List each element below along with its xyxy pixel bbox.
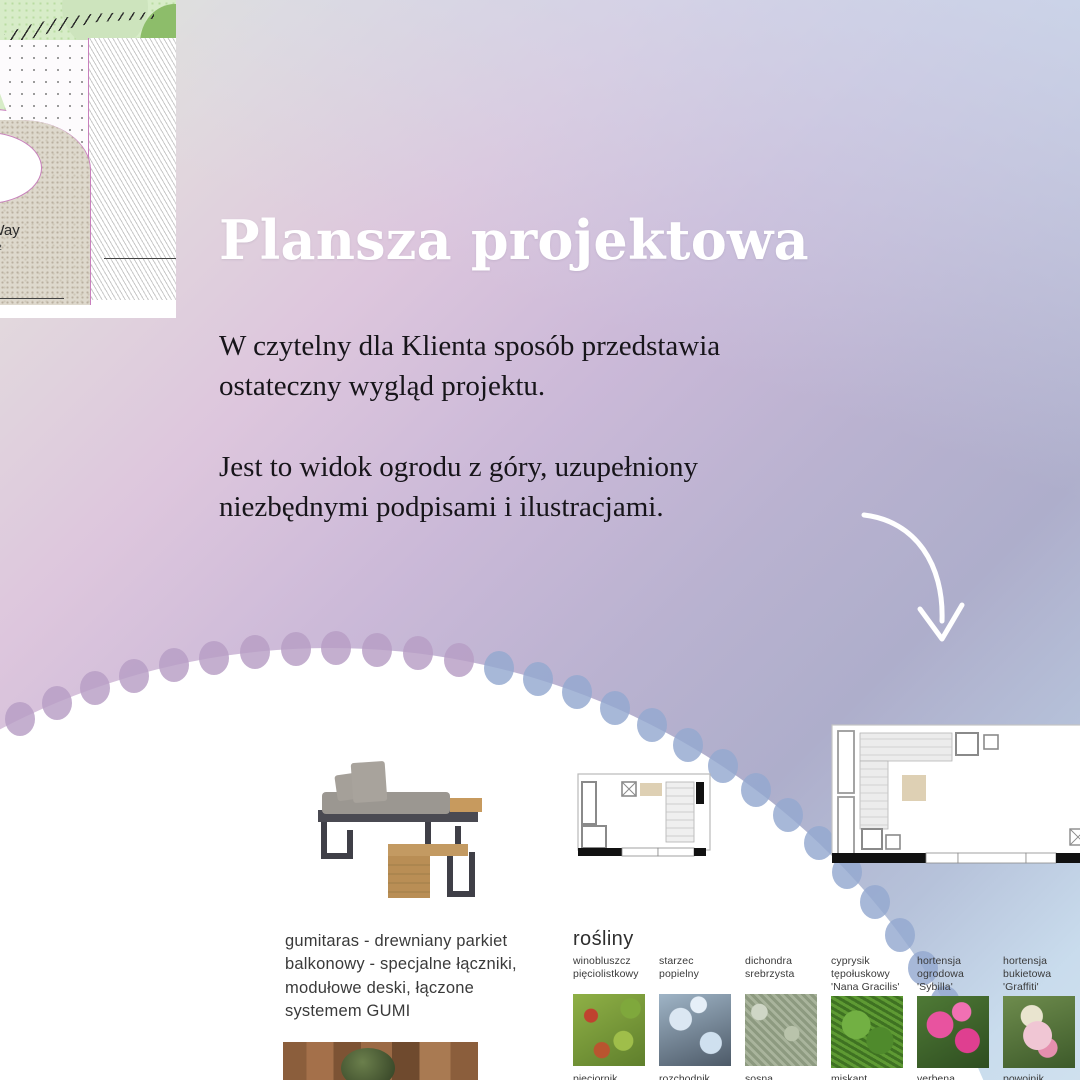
plan-hatched-surface [88, 38, 176, 300]
plant-photo [659, 994, 731, 1066]
ring-dot [362, 633, 392, 667]
body-paragraph-2: Jest to widok ogrodu z góry, uzupełniony… [219, 447, 698, 527]
ring-dot [403, 636, 433, 670]
garden-plan-fragment: rraWay 41m² [0, 0, 176, 318]
slide-canvas: rraWay 41m² Plansza projektowa W czyteln… [0, 0, 1080, 1080]
ring-dot [119, 659, 149, 693]
ring-dot [240, 635, 270, 669]
plant-card: hortensja bukietowa 'Graffiti' [1003, 955, 1075, 1068]
ring-dot [321, 631, 351, 665]
ring-dot [860, 885, 890, 919]
plan-dimension-line [104, 258, 176, 259]
curved-down-arrow-icon [858, 505, 978, 655]
ring-dot [159, 648, 189, 682]
ring-dot [5, 702, 35, 736]
page-title: Plansza projektowa [219, 208, 809, 272]
plant-name-second-row: rozchodnik [659, 1073, 731, 1080]
dotted-rule-divider [0, 1040, 252, 1046]
ring-dot [80, 671, 110, 705]
plant-name-second-row: miskant [831, 1073, 903, 1080]
plants-title: rośliny [573, 928, 1080, 951]
plant-card: winobluszcz pięciolistkowy [573, 955, 645, 1066]
furniture-caption: gumitaras - drewniany parkiet balkonowy … [285, 930, 547, 1024]
ring-dot [523, 662, 553, 696]
plant-card: hortensja ogrodowa 'Sybilla' [917, 955, 989, 1068]
plants-section: rośliny winobluszcz pięciolistkowystarze… [573, 928, 1080, 1080]
plan-area-label: rraWay 41m² [0, 222, 20, 257]
plant-photo [917, 996, 989, 1068]
plan-area-value: 41m² [0, 241, 20, 257]
plant-name: hortensja ogrodowa 'Sybilla' [917, 955, 989, 993]
ring-dot [741, 773, 771, 807]
plant-card: dichondra srebrzysta [745, 955, 817, 1066]
floor-plan-small [572, 770, 720, 862]
ring-dot [281, 632, 311, 666]
plant-photo [1003, 996, 1075, 1068]
plant-name: dichondra srebrzysta [745, 955, 817, 991]
plant-photo [745, 994, 817, 1066]
furniture-photo [300, 752, 512, 902]
plant-name: cyprysik tępołuskowy 'Nana Gracilis' [831, 955, 903, 993]
plant-row: winobluszcz pięciolistkowystarzec popiel… [573, 955, 1080, 1068]
plant-photo [831, 996, 903, 1068]
plant-name: hortensja bukietowa 'Graffiti' [1003, 955, 1075, 993]
plant-card: starzec popielny [659, 955, 731, 1066]
ring-dot [562, 675, 592, 709]
ring-dot [637, 708, 667, 742]
ring-dot [673, 728, 703, 762]
plant-name-second-row: verbena [917, 1073, 989, 1080]
plant-name: starzec popielny [659, 955, 731, 991]
plant-name-second-row: pięciornik [573, 1073, 645, 1080]
ring-dot [484, 651, 514, 685]
plant-card: cyprysik tępołuskowy 'Nana Gracilis' [831, 955, 903, 1068]
plant-row-second: pięciornikrozchodniksosnamiskantverbenap… [573, 1073, 1080, 1080]
ring-dot [199, 641, 229, 675]
plant-name-second-row: sosna [745, 1073, 817, 1080]
body-paragraph-1: W czytelny dla Klienta sposób przedstawi… [219, 326, 720, 406]
deck-photo [283, 1042, 478, 1080]
ring-dot [42, 686, 72, 720]
plan-area-name: rraWay [0, 222, 20, 239]
plant-name-second-row: powojnik [1003, 1073, 1075, 1080]
plan-dimension-line [0, 298, 64, 299]
ring-dot [444, 643, 474, 677]
floor-plan-large [818, 705, 1080, 865]
plant-photo [573, 994, 645, 1066]
plant-name: winobluszcz pięciolistkowy [573, 955, 645, 991]
ring-dot [773, 798, 803, 832]
ring-dot [600, 691, 630, 725]
